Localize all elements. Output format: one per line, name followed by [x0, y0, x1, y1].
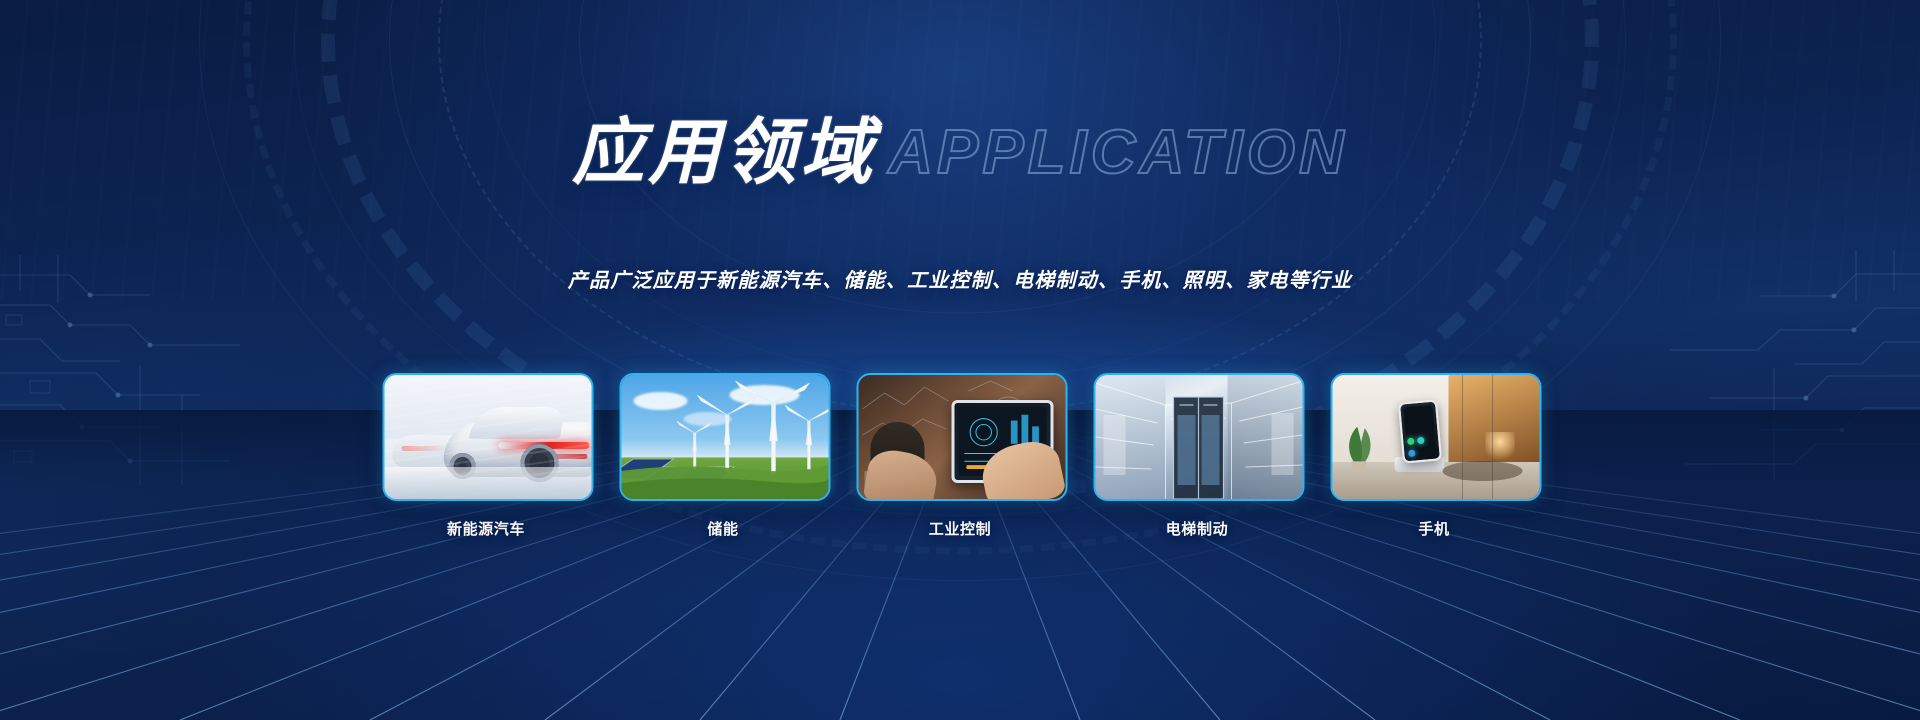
background-decoration: [0, 0, 1920, 720]
application-card-mobile-phone[interactable]: 手机: [1331, 373, 1538, 539]
application-card-list: 新能源汽车: [383, 373, 1538, 539]
mobile-phone-photo: [1333, 375, 1540, 499]
application-card-energy-storage[interactable]: 储能: [620, 373, 827, 539]
page-title: 应用领域: [572, 116, 876, 188]
page-subtitle: 产品广泛应用于新能源汽车、储能、工业控制、电梯制动、手机、照明、家电等行业: [0, 264, 1920, 293]
card-image-frame[interactable]: [383, 373, 594, 501]
application-card-elevator-braking[interactable]: 电梯制动: [1094, 373, 1301, 539]
card-label: 储能: [620, 518, 827, 539]
card-image-frame[interactable]: [1094, 373, 1305, 501]
application-card-new-energy-vehicle[interactable]: 新能源汽车: [383, 373, 590, 539]
card-label: 工业控制: [857, 518, 1064, 539]
new-energy-vehicle-photo: [385, 375, 592, 499]
page-title-english: APPLICATION: [888, 122, 1348, 184]
industrial-control-photo: [859, 375, 1066, 499]
elevator-braking-photo: [1096, 375, 1303, 499]
card-label: 新能源汽车: [383, 518, 590, 539]
energy-storage-photo: [622, 375, 829, 499]
card-label: 电梯制动: [1094, 518, 1301, 539]
card-image-frame[interactable]: [620, 373, 831, 501]
card-image-frame[interactable]: [1331, 373, 1542, 501]
card-label: 手机: [1331, 518, 1538, 539]
card-image-frame[interactable]: [857, 373, 1068, 501]
application-banner: 应用领域 APPLICATION 产品广泛应用于新能源汽车、储能、工业控制、电梯…: [0, 0, 1920, 720]
application-card-industrial-control[interactable]: 工业控制: [857, 373, 1064, 539]
headline-block: 应用领域 APPLICATION: [0, 116, 1920, 188]
